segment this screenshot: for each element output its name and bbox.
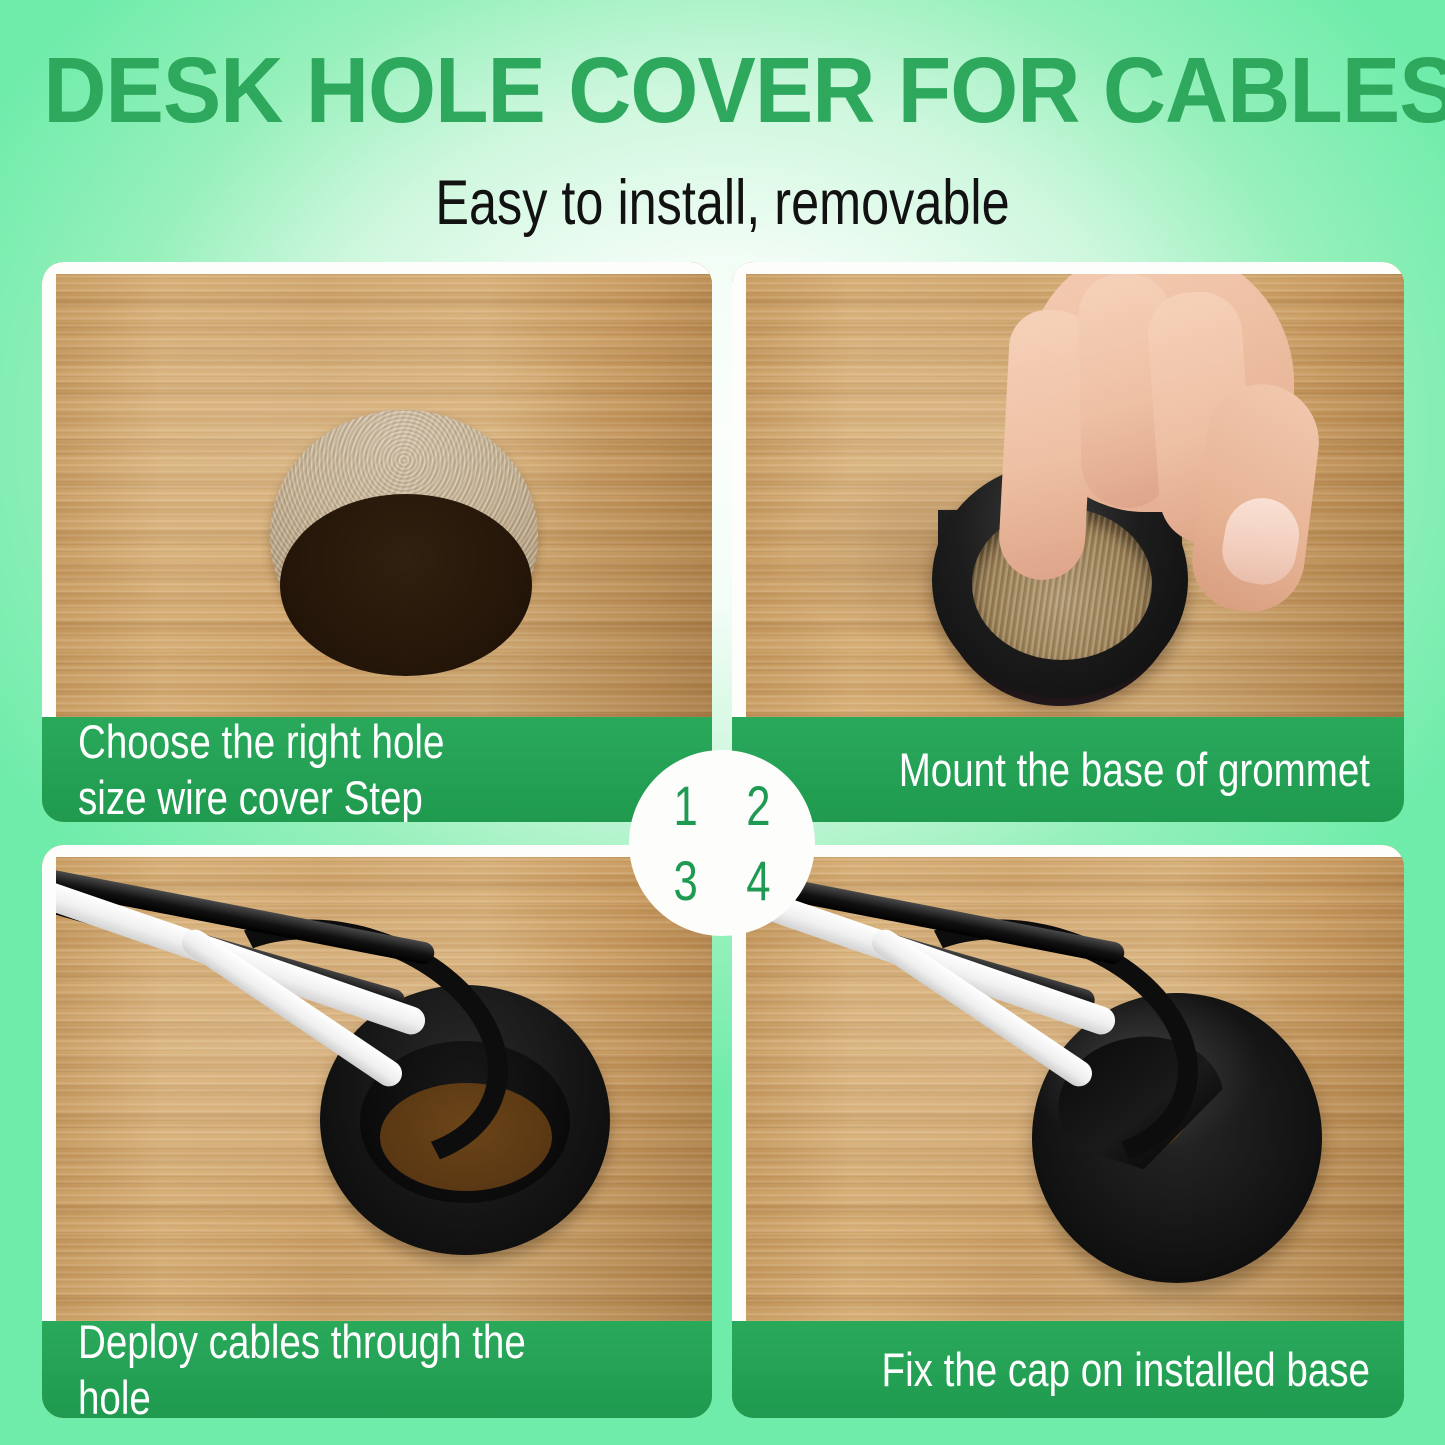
hand <box>968 262 1298 664</box>
photo-top-margin <box>42 845 712 857</box>
step-number-2: 2 <box>732 750 805 843</box>
photo-top-margin <box>732 262 1404 274</box>
step-1-photo <box>42 262 712 717</box>
step-1-caption-text: Choose the right hole size wire cover St… <box>78 714 573 822</box>
step-4-caption-text: Fix the cap on installed base <box>880 1342 1370 1397</box>
step-number-circle: 1 2 3 4 <box>629 750 815 936</box>
step-card-1[interactable]: Choose the right hole size wire cover St… <box>42 262 712 822</box>
step-3-photo <box>42 845 712 1321</box>
step-number-1: 1 <box>639 750 712 843</box>
drilled-hole-opening <box>280 494 532 676</box>
page-subtitle: Easy to install, removable <box>145 172 1301 235</box>
step-4-photo <box>732 845 1404 1321</box>
step-number-4: 4 <box>732 843 805 936</box>
photo-left-margin <box>42 262 56 717</box>
step-card-3[interactable]: Deploy cables through the hole <box>42 845 712 1418</box>
step-card-2[interactable]: Mount the base of grommet <box>732 262 1404 822</box>
step-3-caption-text: Deploy cables through the hole <box>78 1314 575 1418</box>
product-infographic: DESK HOLE COVER FOR CABLES Easy to insta… <box>0 0 1445 1445</box>
photo-top-margin <box>42 262 712 274</box>
step-card-4[interactable]: Fix the cap on installed base <box>732 845 1404 1418</box>
step-2-caption-bar: Mount the base of grommet <box>732 717 1404 822</box>
photo-top-margin <box>732 845 1404 857</box>
step-2-caption-text: Mount the base of grommet <box>871 742 1370 797</box>
step-1-caption-bar: Choose the right hole size wire cover St… <box>42 717 712 822</box>
photo-left-margin <box>732 262 746 717</box>
step-number-3: 3 <box>639 843 712 936</box>
step-2-photo <box>732 262 1404 717</box>
step-4-caption-bar: Fix the cap on installed base <box>732 1321 1404 1418</box>
step-3-caption-bar: Deploy cables through the hole <box>42 1321 712 1418</box>
photo-left-margin <box>42 845 56 1321</box>
page-title: DESK HOLE COVER FOR CABLES <box>43 44 1401 137</box>
